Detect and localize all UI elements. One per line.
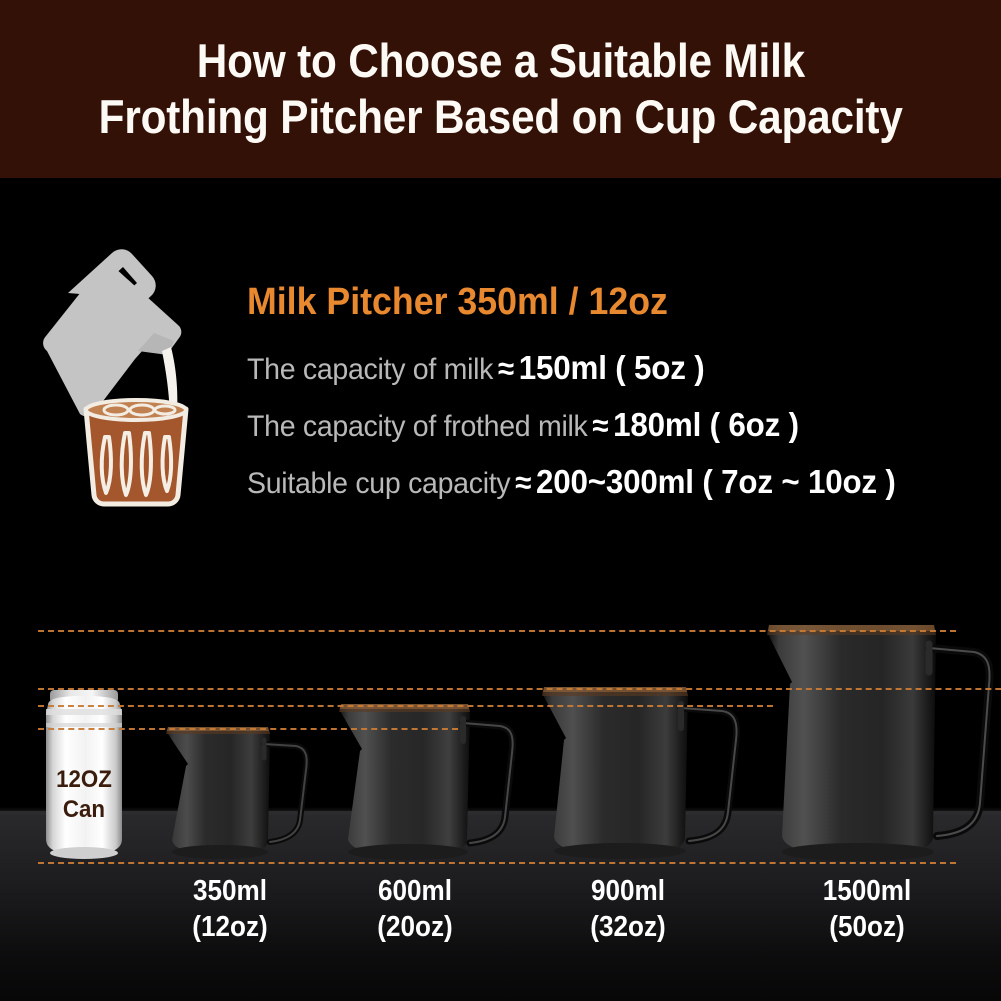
pitcher-350ml-svg — [160, 722, 315, 862]
spec-title: Milk Pitcher 350ml / 12oz — [247, 279, 943, 325]
pour-illustration — [38, 241, 218, 511]
capacity-label-1500ml: 1500ml (50oz) — [791, 873, 944, 945]
capacity-label-900ml-oz: (32oz) — [556, 909, 700, 945]
spec-value-milk: 150ml ( 5oz ) — [519, 349, 705, 386]
spec-panel: Milk Pitcher 350ml / 12oz The capacity o… — [0, 181, 1001, 611]
spec-label-frothed-milk: The capacity of frothed milk — [247, 410, 588, 443]
capacity-label-350ml-ml: 350ml — [158, 873, 302, 909]
spec-value-cup-capacity: 200~300ml ( 7oz ~ 10oz ) — [536, 463, 896, 500]
spec-value-frothed-milk: 180ml ( 6oz ) — [613, 406, 799, 443]
pitcher-1500ml-svg — [758, 620, 998, 862]
pitcher-900ml-svg — [534, 682, 749, 862]
spec-label-cup-capacity: Suitable cup capacity — [247, 467, 510, 500]
page-title-line-1: How to Choose a Suitable Milk — [196, 33, 804, 89]
spec-label-milk: The capacity of milk — [247, 353, 493, 386]
capacity-label-1500ml-oz: (50oz) — [791, 909, 944, 945]
approx-icon-0: ≈ — [493, 351, 519, 386]
capacity-label-600ml: 600ml (20oz) — [343, 873, 487, 945]
capacity-labels: 350ml (12oz) 600ml (20oz) 900ml (32oz) 1… — [0, 873, 1001, 983]
spec-row-frothed-milk: The capacity of frothed milk≈180ml ( 6oz… — [247, 400, 950, 457]
capacity-label-350ml: 350ml (12oz) — [158, 873, 302, 945]
coffee-cup-icon — [86, 400, 186, 504]
capacity-label-600ml-oz: (20oz) — [343, 909, 487, 945]
page-header: How to Choose a Suitable Milk Frothing P… — [0, 0, 1001, 178]
approx-icon-1: ≈ — [588, 408, 614, 443]
pitcher-600ml — [332, 699, 522, 862]
reference-line-350ml-top — [38, 728, 458, 730]
spec-row-milk: The capacity of milk≈150ml ( 5oz ) — [247, 343, 950, 400]
pitcher-600ml-svg — [332, 699, 522, 862]
approx-icon-2: ≈ — [510, 465, 536, 500]
spec-text-block: Milk Pitcher 350ml / 12oz The capacity o… — [247, 279, 987, 514]
reference-can-12oz: 12OZ Can — [40, 687, 128, 862]
can-svg: 12OZ Can — [40, 687, 128, 862]
capacity-label-1500ml-ml: 1500ml — [791, 873, 944, 909]
spec-row-cup-capacity: Suitable cup capacity≈200~300ml ( 7oz ~ … — [247, 457, 950, 514]
capacity-label-900ml-ml: 900ml — [556, 873, 700, 909]
milk-pitcher-icon — [43, 249, 181, 416]
reference-line-baseline — [38, 862, 956, 864]
reference-line-1500ml-top — [38, 630, 956, 632]
can-label-line-2: Can — [63, 795, 105, 822]
capacity-label-900ml: 900ml (32oz) — [556, 873, 700, 945]
page-title-line-2: Frothing Pitcher Based on Cup Capacity — [98, 89, 902, 145]
reference-line-900ml-top — [38, 688, 1001, 690]
size-comparison-panel: 12OZ Can — [0, 611, 1001, 1001]
can-label-line-1: 12OZ — [56, 765, 112, 792]
pitcher-350ml — [160, 722, 315, 862]
capacity-label-350ml-oz: (12oz) — [158, 909, 302, 945]
pour-illustration-svg — [38, 241, 218, 511]
capacity-label-600ml-ml: 600ml — [343, 873, 487, 909]
pitcher-1500ml — [758, 620, 998, 862]
pitcher-900ml — [534, 682, 749, 862]
reference-line-600ml-top — [38, 705, 773, 707]
